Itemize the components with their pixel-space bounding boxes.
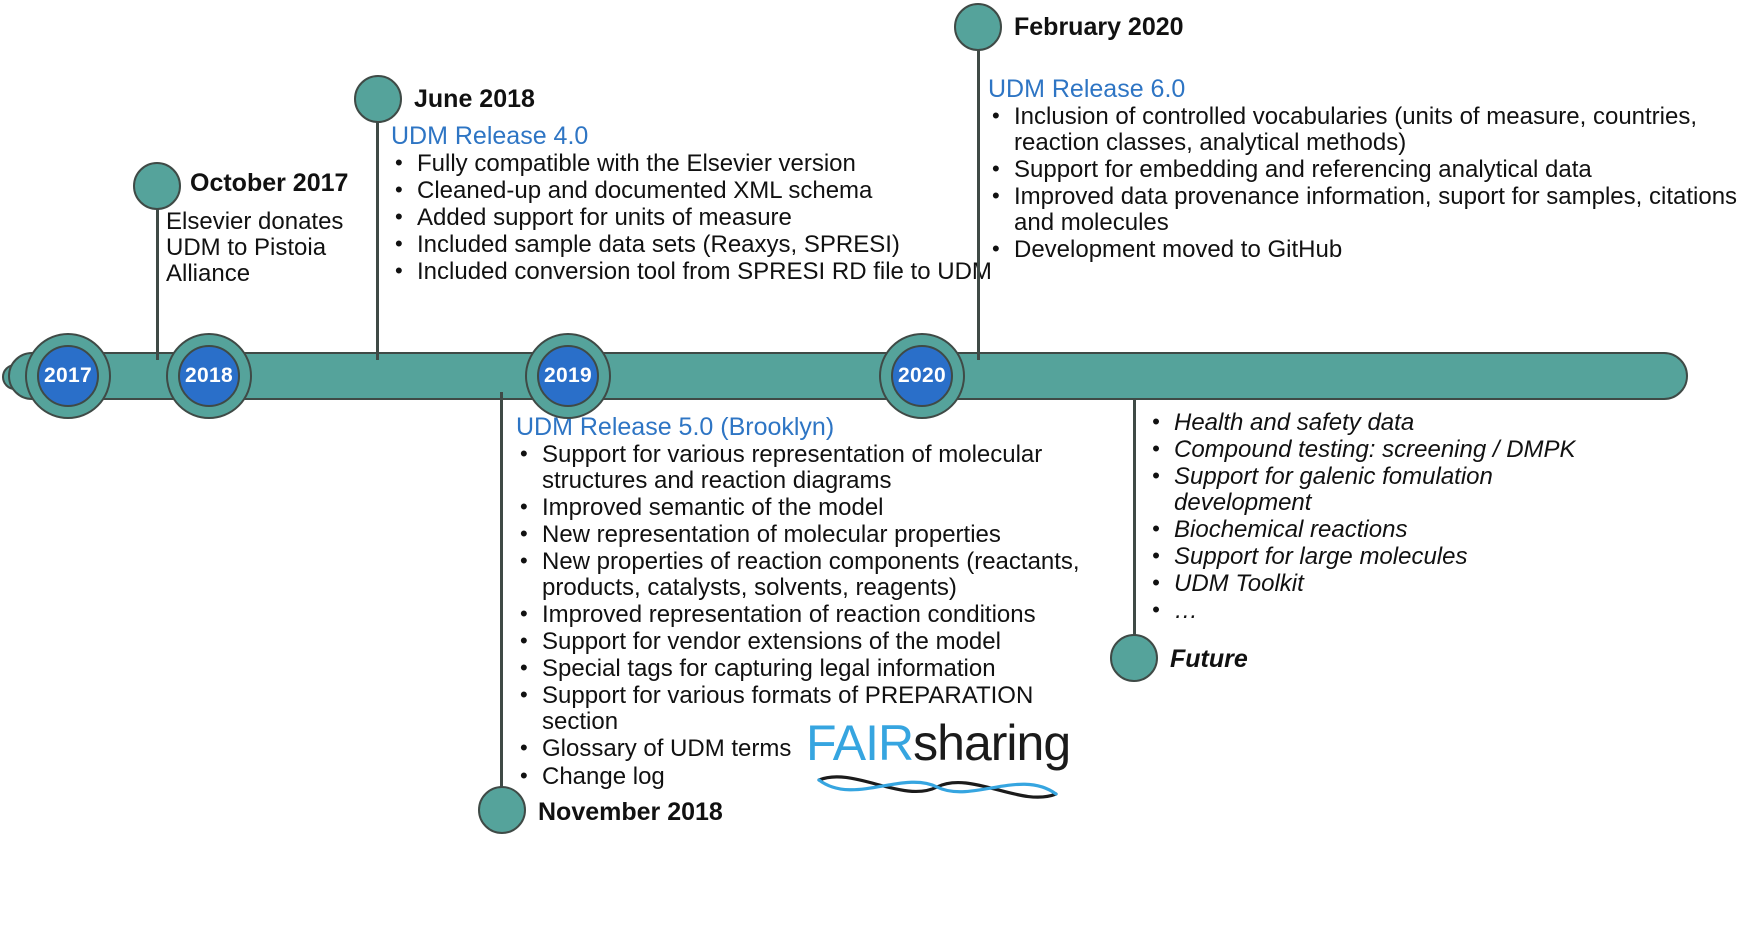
list-item: Fully compatible with the Elsevier versi… [391, 151, 1071, 177]
fairsharing-logo: FAIRsharing [806, 718, 1070, 804]
list-item: Development moved to GitHub [988, 237, 1749, 263]
list-item: … [1148, 598, 1628, 624]
event-body-feb-2020: UDM Release 6.0 Inclusion of controlled … [988, 76, 1749, 264]
list-item: Included conversion tool from SPRESI RD … [391, 259, 1071, 285]
stem-nov-2018 [500, 392, 503, 816]
list-item: Biochemical reactions [1148, 517, 1628, 543]
year-node-2020[interactable]: 2020 [879, 333, 965, 419]
list-item: Support for galenic fomulation developme… [1148, 464, 1628, 516]
marker-feb-2020[interactable] [954, 3, 1002, 51]
event-date-feb-2020: February 2020 [1014, 13, 1184, 42]
stem-oct-2017 [156, 195, 159, 360]
list-item: Support for various representation of mo… [516, 442, 1086, 494]
list-item: UDM Toolkit [1148, 571, 1628, 597]
list-item: Support for embedding and referencing an… [988, 157, 1749, 183]
stem-future [1133, 400, 1136, 665]
fairsharing-wordmark: FAIRsharing [806, 718, 1070, 768]
year-label-2019: 2019 [537, 345, 599, 407]
logo-text-fair: FAIR [806, 715, 913, 771]
timeline-bar [8, 352, 1688, 400]
event-date-future: Future [1170, 645, 1248, 674]
year-node-2019[interactable]: 2019 [525, 333, 611, 419]
list-item: Special tags for capturing legal informa… [516, 656, 1086, 682]
event-date-nov-2018: November 2018 [538, 798, 723, 827]
event-body-jun-2018: UDM Release 4.0 Fully compatible with th… [391, 123, 1071, 286]
list-item: Improved representation of reaction cond… [516, 602, 1086, 628]
release-bullets-4-0: Fully compatible with the Elsevier versi… [391, 151, 1071, 285]
list-item: Health and safety data [1148, 410, 1628, 436]
release-title-5-0: UDM Release 5.0 (Brooklyn) [516, 414, 1086, 441]
marker-nov-2018[interactable] [478, 786, 526, 834]
logo-text-sharing: sharing [913, 715, 1070, 771]
year-label-2017: 2017 [37, 345, 99, 407]
marker-oct-2017[interactable] [133, 162, 181, 210]
release-title-4-0: UDM Release 4.0 [391, 123, 1071, 150]
future-bullets: Health and safety data Compound testing:… [1148, 410, 1628, 624]
infinity-icon [813, 770, 1063, 804]
release-bullets-6-0: Inclusion of controlled vocabularies (un… [988, 104, 1749, 263]
list-item: Support for large molecules [1148, 544, 1628, 570]
stem-jun-2018 [376, 110, 379, 360]
year-node-2018[interactable]: 2018 [166, 333, 252, 419]
list-item: Compound testing: screening / DMPK [1148, 437, 1628, 463]
list-item: Improved data provenance information, su… [988, 184, 1749, 236]
year-label-2020: 2020 [891, 345, 953, 407]
release-title-6-0: UDM Release 6.0 [988, 76, 1749, 103]
event-date-oct-2017: October 2017 [190, 169, 348, 198]
list-item: Cleaned-up and documented XML schema [391, 178, 1071, 204]
year-label-2018: 2018 [178, 345, 240, 407]
list-item: Included sample data sets (Reaxys, SPRES… [391, 232, 1071, 258]
list-item: New properties of reaction components (r… [516, 549, 1086, 601]
event-date-jun-2018: June 2018 [414, 85, 535, 114]
marker-future[interactable] [1110, 634, 1158, 682]
marker-jun-2018[interactable] [354, 75, 402, 123]
list-item: Added support for units of measure [391, 205, 1071, 231]
list-item: Inclusion of controlled vocabularies (un… [988, 104, 1749, 156]
stem-feb-2020 [977, 38, 980, 360]
event-body-oct-2017: Elsevier donates UDM to Pistoia Alliance [166, 209, 396, 287]
list-item: Support for vendor extensions of the mod… [516, 629, 1086, 655]
event-body-future: Health and safety data Compound testing:… [1148, 410, 1628, 625]
timeline-diagram: 2017 2018 2019 2020 October 2017 Elsevie… [0, 0, 1749, 934]
list-item: New representation of molecular properti… [516, 522, 1086, 548]
list-item: Improved semantic of the model [516, 495, 1086, 521]
year-node-2017[interactable]: 2017 [25, 333, 111, 419]
